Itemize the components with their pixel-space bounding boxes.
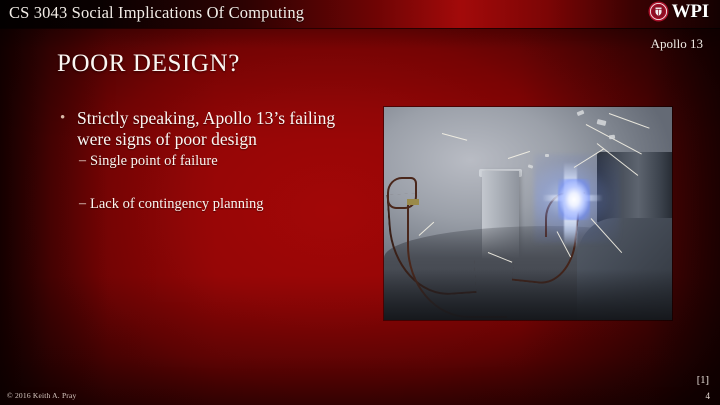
slide-subtitle: Apollo 13	[651, 36, 703, 52]
bullet-text: Strictly speaking, Apollo 13’s failing w…	[77, 108, 370, 149]
photo-bottom-shadow	[384, 269, 672, 320]
sub-bullet-item: – Single point of failure	[79, 152, 370, 170]
slide-body-content: • Strictly speaking, Apollo 13’s failing…	[58, 108, 370, 213]
bullet-item: • Strictly speaking, Apollo 13’s failing…	[58, 108, 370, 149]
photo-arc-core	[558, 179, 590, 219]
presentation-slide: CS 3043 Social Implications Of Computing…	[0, 0, 720, 405]
sub-bullet-text: Single point of failure	[90, 152, 218, 170]
wpi-wordmark: WPI	[672, 1, 709, 22]
photo-debris	[545, 154, 549, 157]
photo-debris	[608, 134, 614, 139]
photo-wire-clip	[407, 199, 419, 205]
copyright-notice: © 2016 Keith A. Pray	[7, 391, 77, 400]
bullet-marker-icon: •	[58, 108, 77, 128]
sub-bullet-item: – Lack of contingency planning	[79, 195, 370, 213]
sub-bullet-text: Lack of contingency planning	[90, 195, 264, 213]
course-title: CS 3043 Social Implications Of Computing	[9, 3, 304, 23]
apollo13-tank-arc-photo	[384, 107, 672, 320]
wpi-seal-icon	[648, 1, 669, 22]
slide-page-number: 4	[706, 391, 711, 401]
sub-bullet-list: – Single point of failure – Lack of cont…	[58, 152, 370, 213]
slide-title: POOR DESIGN?	[57, 50, 240, 78]
sub-bullet-dash-icon: –	[79, 195, 90, 213]
citation-reference: [1]	[697, 375, 709, 386]
sub-bullet-dash-icon: –	[79, 152, 90, 170]
wpi-logo: WPI	[648, 1, 709, 22]
photo-scene	[384, 107, 672, 320]
